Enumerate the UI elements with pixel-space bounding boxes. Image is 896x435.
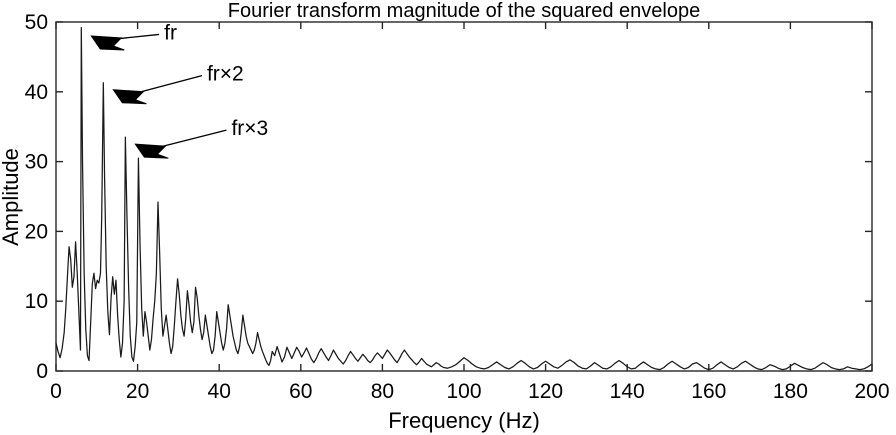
x-tick-label: 160	[691, 380, 726, 403]
x-tick-label: 40	[208, 380, 231, 403]
y-tick-label: 30	[25, 151, 48, 174]
fourier-spectrum-chart: Fourier transform magnitude of the squar…	[0, 0, 896, 435]
y-tick-label: 10	[25, 290, 48, 313]
annotation-arrow-icon	[113, 90, 146, 104]
y-tick-label: 0	[36, 360, 48, 383]
x-tick-label: 100	[446, 380, 481, 403]
x-axis-tick-labels: 020406080100120140160180200	[50, 380, 889, 403]
annotation-label: fr	[164, 21, 177, 44]
annotation-leader-line	[137, 76, 202, 93]
x-tick-label: 200	[854, 380, 889, 403]
x-tick-label: 140	[610, 380, 645, 403]
spectrum-trace	[56, 28, 872, 370]
y-tick-label: 50	[25, 11, 48, 34]
annotation-arrow-icon	[135, 144, 168, 158]
annotation-label: fr×2	[207, 63, 244, 86]
y-tick-label: 20	[25, 220, 48, 243]
y-tick-label: 40	[25, 81, 48, 104]
x-axis-title: Frequency (Hz)	[388, 408, 540, 433]
x-tick-label: 80	[371, 380, 394, 403]
x-tick-label: 120	[528, 380, 563, 403]
y-axis-title: Amplitude	[0, 148, 23, 246]
x-tick-label: 180	[773, 380, 808, 403]
annotation-leader-line	[115, 34, 159, 39]
x-tick-label: 60	[289, 380, 312, 403]
figure-container: Fourier transform magnitude of the squar…	[0, 0, 896, 435]
chart-title: Fourier transform magnitude of the squar…	[228, 0, 701, 22]
y-axis-tick-labels: 01020304050	[25, 11, 48, 383]
x-tick-label: 20	[126, 380, 149, 403]
x-axis-ticks	[56, 22, 872, 371]
plot-area-frame	[56, 22, 872, 371]
x-tick-label: 0	[50, 380, 62, 403]
annotation-label: fr×3	[231, 117, 268, 140]
annotation-leader-line	[159, 130, 226, 147]
peak-annotations: frfr×2fr×3	[91, 21, 268, 158]
annotation-arrow-icon	[91, 36, 124, 50]
y-axis-ticks	[56, 22, 872, 371]
